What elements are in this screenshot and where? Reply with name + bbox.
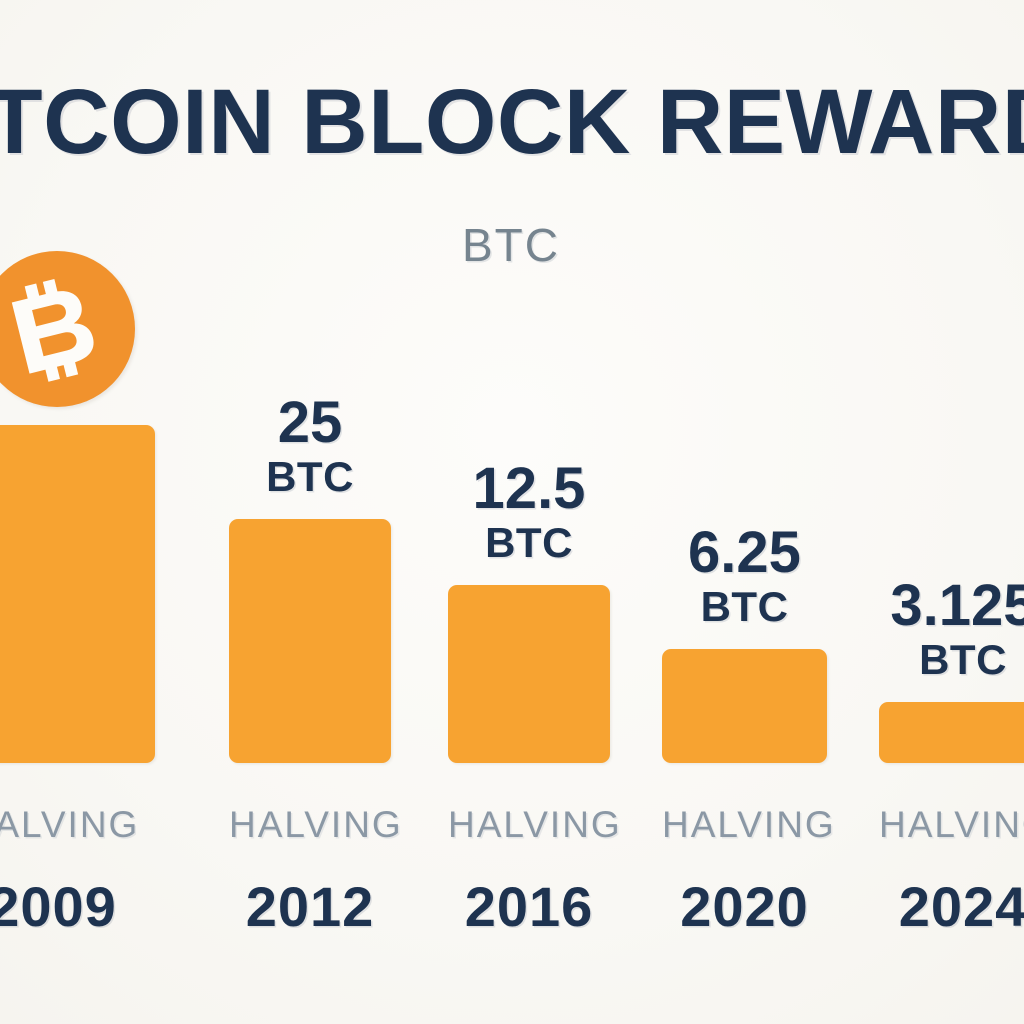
bar-group-2020: 6.25 BTC — [662, 649, 827, 763]
axis-halving-2024: HALVING — [879, 805, 1024, 845]
axis-halving-2016: HALVING — [448, 805, 610, 845]
bar-2009 — [0, 425, 155, 763]
axis-year-2020: 2020 — [662, 878, 827, 936]
axis-year-2009: 2009 — [0, 878, 155, 936]
axis-label-2009: HALVING 2009 — [0, 805, 155, 936]
bar-group-2024: 3.125 BTC — [879, 702, 1024, 763]
axis-label-2020: HALVING 2020 — [662, 805, 827, 936]
value-number-2020: 6.25 — [688, 523, 801, 583]
value-unit-2024: BTC — [890, 636, 1024, 684]
value-label-2012: 25 BTC — [266, 393, 354, 501]
axis-label-2016: HALVING 2016 — [448, 805, 610, 936]
value-label-2024: 3.125 BTC — [890, 576, 1024, 684]
bar-2024 — [879, 702, 1024, 763]
axis-halving-2020: HALVING — [662, 805, 827, 845]
bar-2012 — [229, 519, 391, 763]
value-number-2024: 3.125 — [890, 576, 1024, 636]
bar-chart-plot: 25 BTC 12.5 BTC 6.25 BTC 3.125 BT — [0, 0, 1024, 1024]
axis-label-2024: HALVING 2024 — [879, 805, 1024, 936]
value-label-2020: 6.25 BTC — [688, 523, 801, 631]
bar-2016 — [448, 585, 610, 763]
value-unit-2020: BTC — [688, 583, 801, 631]
bar-group-2016: 12.5 BTC — [448, 585, 610, 763]
value-unit-2012: BTC — [266, 453, 354, 501]
bitcoin-block-rewards-infographic: BITCOIN BLOCK REWARDS BTC — [0, 0, 1024, 1024]
bar-group-2012: 25 BTC — [229, 519, 391, 763]
axis-halving-2012: HALVING — [229, 805, 391, 845]
value-number-2012: 25 — [266, 393, 354, 453]
axis-label-2012: HALVING 2012 — [229, 805, 391, 936]
axis-year-2016: 2016 — [448, 878, 610, 936]
value-number-2016: 12.5 — [473, 459, 586, 519]
bar-2020 — [662, 649, 827, 763]
axis-year-2024: 2024 — [879, 878, 1024, 936]
axis-year-2012: 2012 — [229, 878, 391, 936]
bitcoin-coin-icon — [0, 251, 135, 407]
axis-halving-2009: HALVING — [0, 805, 155, 845]
bar-group-2009 — [0, 425, 155, 763]
value-unit-2016: BTC — [473, 519, 586, 567]
value-label-2016: 12.5 BTC — [473, 459, 586, 567]
